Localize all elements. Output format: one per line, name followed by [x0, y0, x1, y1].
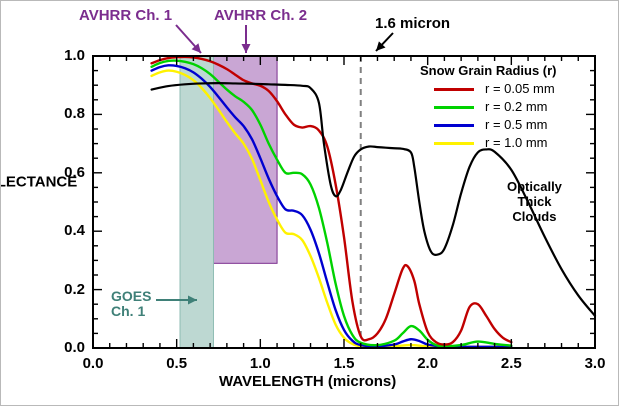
y-tick-label: 0.6 — [41, 164, 85, 181]
optically-thick-clouds-annotation: Optically Thick Clouds — [507, 179, 562, 224]
y-tick-label: 0.4 — [41, 222, 85, 239]
avhrr-ch2-annotation: AVHRR Ch. 2 — [214, 7, 307, 24]
x-tick-label: 0.0 — [71, 355, 115, 372]
avhrr-ch1-annotation: AVHRR Ch. 1 — [79, 7, 172, 24]
x-tick-label: 2.5 — [489, 355, 533, 372]
x-tick-label: 1.5 — [322, 355, 366, 372]
legend-entry-label: r = 1.0 mm — [485, 135, 548, 150]
x-tick-label: 0.5 — [155, 355, 199, 372]
micron-annotation: 1.6 micron — [375, 15, 450, 32]
legend-swatch — [434, 106, 474, 109]
band-goes-ch-1 — [180, 56, 213, 348]
x-axis-title: WAVELENGTH (microns) — [219, 373, 396, 390]
y-tick-label: 0.2 — [41, 281, 85, 298]
y-tick-label: 0.8 — [41, 105, 85, 122]
legend-swatch — [434, 88, 474, 91]
x-tick-label: 1.0 — [238, 355, 282, 372]
legend-title: Snow Grain Radius (r) — [420, 63, 557, 78]
avhrr-ch2-arrow-icon-head — [242, 44, 251, 53]
figure-container: REFLECTANCE WAVELENGTH (microns) 0.00.51… — [0, 0, 619, 406]
goes-ch1-annotation: GOES Ch. 1 — [111, 289, 151, 319]
y-tick-label: 0.0 — [41, 339, 85, 356]
x-tick-label: 2.0 — [406, 355, 450, 372]
goes-annotation-line1: GOES — [111, 289, 151, 304]
legend-swatch — [434, 124, 474, 127]
clouds-annotation-line3: Clouds — [507, 209, 562, 224]
y-tick-label: 1.0 — [41, 47, 85, 64]
legend-entry-label: r = 0.5 mm — [485, 117, 548, 132]
clouds-annotation-line1: Optically — [507, 179, 562, 194]
x-tick-label: 3.0 — [573, 355, 617, 372]
shaded-bands-group — [180, 56, 277, 348]
legend-entry-label: r = 0.05 mm — [485, 81, 555, 96]
legend-entry-label: r = 0.2 mm — [485, 99, 548, 114]
clouds-annotation-line2: Thick — [507, 194, 562, 209]
goes-annotation-line2: Ch. 1 — [111, 304, 151, 319]
legend-swatch — [434, 142, 474, 145]
